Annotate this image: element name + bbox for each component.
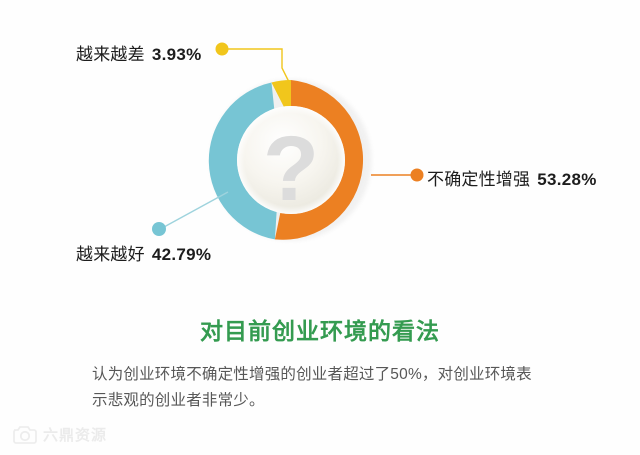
callout-better-category: 越来越好 (76, 245, 145, 264)
donut-chart: ? 越来越差3.93% 越来越好42.79% 不确定性增强53.28% (0, 0, 640, 290)
leader-line-better (164, 192, 228, 227)
caption-block: 对目前创业环境的看法 认为创业环境不确定性增强的创业者超过了50%，对创业环境表… (0, 292, 640, 414)
worse-dot[interactable] (216, 43, 229, 56)
question-mark-icon: ? (263, 118, 319, 220)
leader-line-worse (226, 49, 290, 84)
callout-label-worse[interactable]: 越来越差3.93% (76, 40, 202, 65)
callout-worse-percent: 3.93% (152, 45, 202, 64)
callout-label-uncertain[interactable]: 不确定性增强53.28% (427, 165, 597, 190)
watermark: 六鼎资源 (12, 423, 107, 445)
camera-watermark-icon (12, 423, 38, 445)
watermark-text: 六鼎资源 (43, 424, 107, 445)
callout-uncertain-percent: 53.28% (537, 170, 596, 189)
callout-label-better[interactable]: 越来越好42.79% (76, 240, 211, 265)
uncertain-dot[interactable] (411, 169, 424, 182)
callout-worse-category: 越来越差 (76, 45, 145, 64)
page-title: 对目前创业环境的看法 (0, 312, 640, 346)
callout-better-percent: 42.79% (152, 245, 211, 264)
callout-uncertain-category: 不确定性增强 (427, 170, 530, 189)
caption-body-text: 认为创业环境不确定性增强的创业者超过了50%，对创业环境表示悲观的创业者非常少。 (92, 362, 544, 414)
better-dot[interactable] (152, 222, 166, 236)
infographic-root: ? 越来越差3.93% 越来越好42.79% 不确定性增强53.28% 对目前创… (0, 0, 640, 455)
